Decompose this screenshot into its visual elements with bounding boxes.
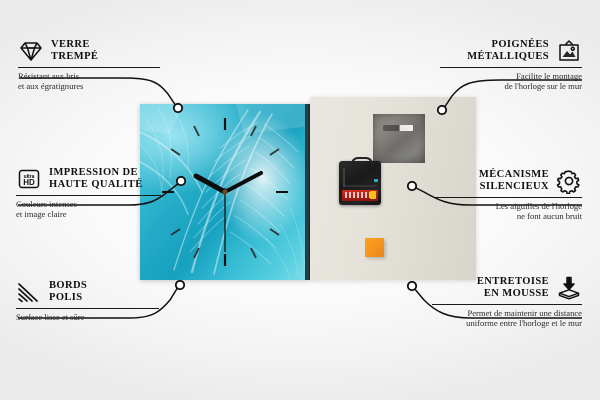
feature-description: Les aiguilles de l'horloge ne font aucun… (426, 201, 582, 221)
feature-title-line1: VERRE (51, 39, 90, 50)
hanger-plate (373, 114, 425, 163)
feature-divider (16, 195, 161, 196)
feature-desc-line1: Résistant aux bris (18, 71, 79, 81)
feature-verre-trempe: VERRE TREMPÉ Résistant aux bris et aux é… (18, 38, 168, 91)
polished-edge-icon (16, 279, 42, 305)
clock-hour-hand (196, 176, 225, 192)
clock-minute-hand (225, 173, 261, 192)
feature-title-line1: POIGNÉES (492, 39, 549, 50)
feature-title: MÉCANISME SILENCIEUX (479, 169, 549, 194)
gear-icon (556, 168, 582, 194)
feature-title: ENTRETOISE EN MOUSSE (477, 276, 549, 301)
feature-title-line2: SILENCIEUX (480, 181, 549, 192)
feature-divider (16, 308, 159, 309)
feature-title: BORDS POLIS (49, 280, 87, 305)
hanger-slot (383, 125, 413, 131)
feature-desc-line2: et aux égratignures (18, 81, 83, 91)
feature-title-line2: POLIS (49, 292, 83, 303)
diamond-icon (18, 38, 44, 64)
feature-mecanisme-silencieux: MÉCANISME SILENCIEUX Les aiguilles de l'… (426, 168, 582, 221)
feature-title-line1: BORDS (49, 280, 87, 291)
feature-description: Résistant aux bris et aux égratignures (18, 71, 168, 91)
infographic-stage: VERRE TREMPÉ Résistant aux bris et aux é… (0, 0, 600, 400)
feature-header: MÉCANISME SILENCIEUX (426, 168, 582, 194)
feature-title: IMPRESSION DE HAUTE QUALITÉ (49, 167, 143, 192)
feature-description: Facilite le montage de l'horloge sur le … (432, 71, 582, 91)
feature-title-line1: ENTRETOISE (477, 276, 549, 287)
feature-description: Couleurs intenses et image claire (16, 199, 176, 219)
feature-description: Surface lisse et sûre (16, 312, 171, 322)
feature-title: POIGNÉES MÉTALLIQUES (467, 39, 549, 64)
feature-title-line1: MÉCANISME (479, 169, 549, 180)
feature-bords-polis: BORDS POLIS Surface lisse et sûre (16, 279, 171, 322)
feature-header: VERRE TREMPÉ (18, 38, 168, 64)
feature-desc-line1: Les aiguilles de l'horloge (496, 201, 582, 211)
feature-title-line1: IMPRESSION DE (49, 167, 138, 178)
feature-divider (434, 197, 582, 198)
battery (342, 190, 378, 201)
clock-center-cap (222, 189, 227, 194)
ultra-hd-icon: ultra HD (16, 166, 42, 192)
feature-title: VERRE TREMPÉ (51, 39, 98, 64)
svg-text:HD: HD (23, 178, 35, 187)
foam-spacer (365, 238, 384, 257)
feature-header: BORDS POLIS (16, 279, 171, 305)
feature-description: Permet de maintenir une distance uniform… (424, 308, 582, 328)
feature-desc-line1: Facilite le montage (516, 71, 582, 81)
feature-title-line2: HAUTE QUALITÉ (49, 179, 143, 190)
feature-desc-line2: et image claire (16, 209, 67, 219)
feature-header: POIGNÉES MÉTALLIQUES (432, 38, 582, 64)
mechanism-indicator (374, 179, 378, 182)
feature-divider (432, 304, 582, 305)
feature-impression-haute-qualite: ultra HD IMPRESSION DE HAUTE QUALITÉ Cou… (16, 166, 176, 219)
feature-title-line2: MÉTALLIQUES (467, 51, 549, 62)
picture-hanger-icon (556, 38, 582, 64)
feature-desc-line2: ne font aucun bruit (517, 211, 582, 221)
feature-desc-line1: Permet de maintenir une distance (467, 308, 582, 318)
battery-label (345, 192, 371, 198)
feature-desc-line2: uniforme entre l'horloge et le mur (466, 318, 582, 328)
foam-spacer-icon (556, 275, 582, 301)
feature-title-line2: TREMPÉ (51, 51, 98, 62)
feature-title-line2: EN MOUSSE (484, 288, 549, 299)
feature-poignees-metalliques: POIGNÉES MÉTALLIQUES Facilite le montage… (432, 38, 582, 91)
feature-desc-line1: Surface lisse et sûre (16, 312, 85, 322)
feature-divider (440, 67, 582, 68)
feature-divider (18, 67, 160, 68)
feature-desc-line2: de l'horloge sur le mur (505, 81, 582, 91)
mechanism-texture (343, 168, 377, 187)
clock-mechanism (339, 161, 381, 205)
battery-plus-terminal (370, 191, 376, 199)
feature-desc-line1: Couleurs intenses (16, 199, 77, 209)
feature-header: ultra HD IMPRESSION DE HAUTE QUALITÉ (16, 166, 176, 192)
feature-entretoise-en-mousse: ENTRETOISE EN MOUSSE Permet de maintenir… (424, 275, 582, 328)
feature-header: ENTRETOISE EN MOUSSE (424, 275, 582, 301)
mechanism-hanger-loop (351, 157, 373, 166)
